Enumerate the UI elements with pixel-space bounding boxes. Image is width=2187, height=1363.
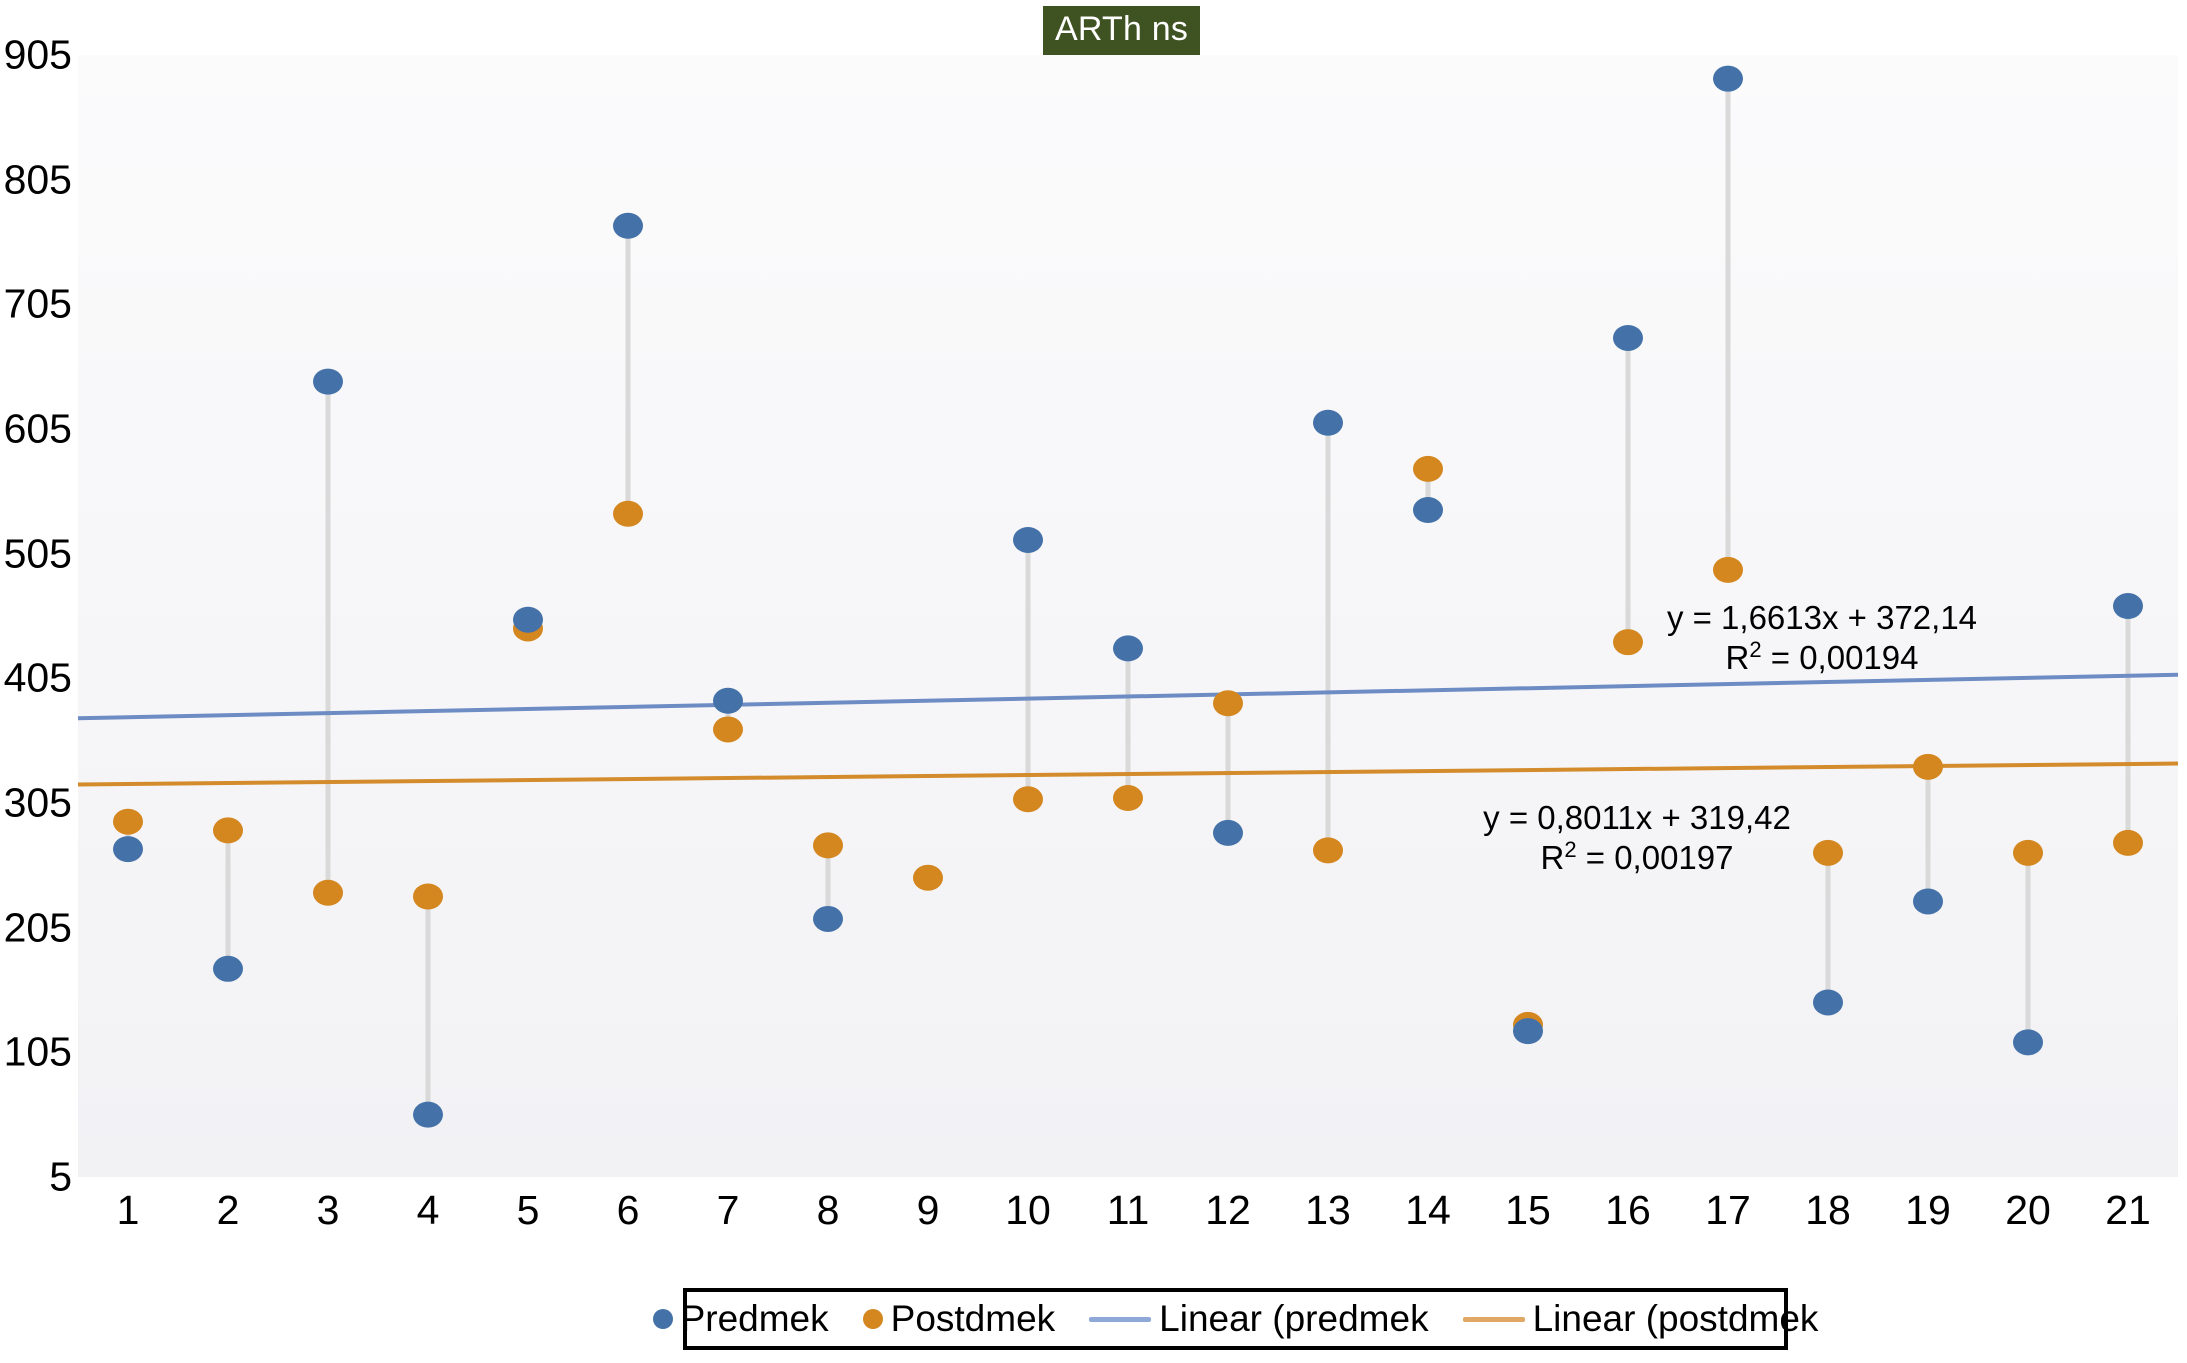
postdmek-point [1913, 754, 1943, 780]
predmek-point [1713, 66, 1743, 92]
postdmek-r2-line: R2 = 0,00197 [1483, 838, 1791, 878]
legend-label: Postdmek [891, 1299, 1056, 1339]
chart-root: ARTh ns 9058057056055054053052051055 123… [0, 0, 2187, 1363]
predmek-point [1813, 989, 1843, 1015]
legend-item[interactable]: Linear (postdmek [1463, 1299, 1819, 1339]
postdmek-point [2113, 830, 2143, 856]
postdmek-equation-annotation: y = 0,8011x + 319,42 R2 = 0,00197 [1483, 798, 1791, 878]
postdmek-point [1413, 456, 1443, 482]
postdmek-point [1213, 690, 1243, 716]
predmek-point [1113, 635, 1143, 661]
predmek-point [313, 369, 343, 395]
data-markers [113, 66, 2143, 1128]
data-layer [0, 0, 2187, 1363]
predmek-point [2113, 593, 2143, 619]
predmek-point [513, 607, 543, 633]
legend-dot-icon [863, 1309, 883, 1329]
predmek-equation-line: y = 1,6613x + 372,14 [1667, 598, 1977, 638]
predmek-point [1913, 888, 1943, 914]
predmek-point [1613, 325, 1643, 351]
postdmek-point [113, 809, 143, 835]
predmek-point [613, 213, 643, 239]
postdmek-point [1313, 837, 1343, 863]
postdmek-point [313, 880, 343, 906]
postdmek-point [613, 501, 643, 527]
postdmek-point [213, 817, 243, 843]
postdmek-point [2013, 840, 2043, 866]
postdmek-point [813, 832, 843, 858]
predmek-point [813, 906, 843, 932]
predmek-r2-line: R2 = 0,00194 [1667, 638, 1977, 678]
legend-item[interactable]: Linear (predmek [1089, 1299, 1428, 1339]
postdmek-point [1613, 629, 1643, 655]
predmek-point [1513, 1018, 1543, 1044]
postdmek-point [913, 865, 943, 891]
postdmek-equation-line: y = 0,8011x + 319,42 [1483, 798, 1791, 838]
legend-label: Linear (predmek [1159, 1299, 1428, 1339]
predmek-point [1213, 820, 1243, 846]
predmek-point [113, 836, 143, 862]
legend-label: Predmek [681, 1299, 829, 1339]
legend-line-icon [1463, 1317, 1525, 1322]
postdmek-point [1713, 557, 1743, 583]
connector-lines [128, 79, 2128, 1115]
postdmek-point [1013, 786, 1043, 812]
predmek-point [213, 956, 243, 982]
legend-line-icon [1089, 1317, 1151, 1322]
predmek-point [2013, 1029, 2043, 1055]
legend-item[interactable]: Postdmek [863, 1299, 1056, 1339]
predmek-point [1413, 497, 1443, 523]
postdmek-point [1113, 785, 1143, 811]
postdmek-point [1813, 840, 1843, 866]
predmek-point [713, 688, 743, 714]
chart-legend: PredmekPostdmekLinear (predmekLinear (po… [683, 1288, 1788, 1350]
legend-dot-icon [653, 1309, 673, 1329]
predmek-point [1313, 410, 1343, 436]
legend-item[interactable]: Predmek [653, 1299, 829, 1339]
postdmek-point [413, 884, 443, 910]
predmek-point [413, 1102, 443, 1128]
legend-label: Linear (postdmek [1533, 1299, 1819, 1339]
predmek-point [1013, 527, 1043, 553]
predmek-equation-annotation: y = 1,6613x + 372,14 R2 = 0,00194 [1667, 598, 1977, 678]
postdmek-point [713, 716, 743, 742]
